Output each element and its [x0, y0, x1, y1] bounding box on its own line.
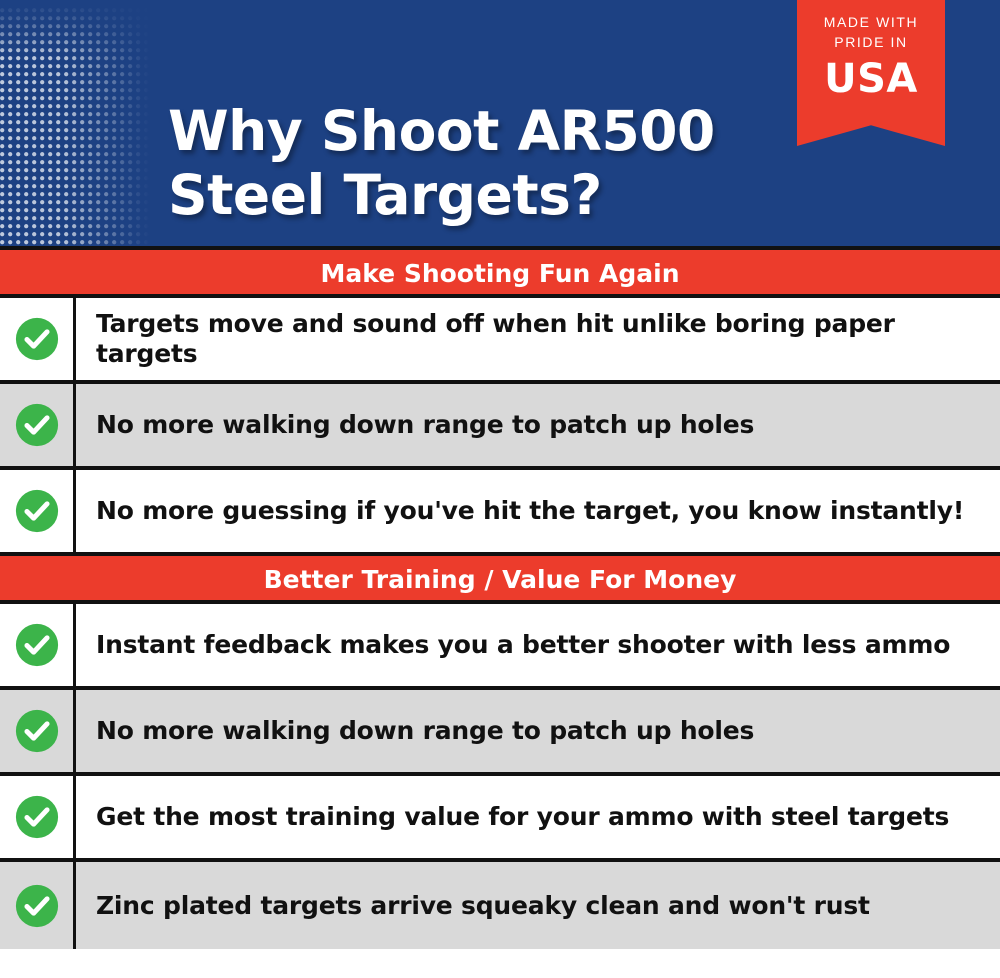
page-title-line-2: Steel Targets? — [168, 163, 768, 227]
list-item-label: No more walking down range to patch up h… — [96, 410, 754, 440]
list-item-label: Targets move and sound off when hit unli… — [96, 309, 986, 369]
check-circle-icon — [14, 488, 60, 534]
section-header-make-shooting-fun-again: Make Shooting Fun Again — [0, 250, 1000, 298]
made-in-usa-ribbon-badge: MADE WITH PRIDE IN USA — [797, 0, 945, 146]
list-item-label: Instant feedback makes you a better shoo… — [96, 630, 950, 660]
hero-banner: Why Shoot AR500 Steel Targets? MADE WITH… — [0, 0, 1000, 246]
check-circle-icon — [14, 316, 60, 362]
list-item-label: Zinc plated targets arrive squeaky clean… — [96, 891, 870, 921]
halftone-dot-pattern — [0, 8, 150, 246]
page-title: Why Shoot AR500 Steel Targets? — [168, 99, 768, 227]
list-item-icon-cell — [0, 384, 76, 466]
list-item-text-cell: No more walking down range to patch up h… — [76, 384, 1000, 466]
benefits-list: Make Shooting Fun Again Targets move and… — [0, 246, 1000, 949]
check-circle-icon — [14, 622, 60, 668]
badge-line-2: PRIDE IN — [797, 32, 945, 52]
list-item-label: Get the most training value for your amm… — [96, 802, 949, 832]
list-item-icon-cell — [0, 604, 76, 686]
list-item-text-cell: Get the most training value for your amm… — [76, 776, 1000, 858]
list-item-text-cell: No more walking down range to patch up h… — [76, 690, 1000, 772]
section-header-better-training-value-for-money: Better Training / Value For Money — [0, 556, 1000, 604]
list-item-text-cell: Zinc plated targets arrive squeaky clean… — [76, 862, 1000, 949]
check-circle-icon — [14, 402, 60, 448]
list-item-text-cell: Targets move and sound off when hit unli… — [76, 298, 1000, 380]
list-item-icon-cell — [0, 298, 76, 380]
list-item-label: No more guessing if you've hit the targe… — [96, 496, 964, 526]
list-item-text-cell: Instant feedback makes you a better shoo… — [76, 604, 1000, 686]
list-item-icon-cell — [0, 776, 76, 858]
list-item-icon-cell — [0, 470, 76, 552]
list-item-icon-cell — [0, 690, 76, 772]
check-circle-icon — [14, 883, 60, 929]
list-item: Zinc plated targets arrive squeaky clean… — [0, 862, 1000, 949]
list-item: No more walking down range to patch up h… — [0, 690, 1000, 776]
badge-country-label: USA — [797, 56, 945, 102]
list-item: Instant feedback makes you a better shoo… — [0, 604, 1000, 690]
page-title-line-1: Why Shoot AR500 — [168, 99, 768, 163]
list-item-label: No more walking down range to patch up h… — [96, 716, 754, 746]
list-item-text-cell: No more guessing if you've hit the targe… — [76, 470, 1000, 552]
list-item-icon-cell — [0, 862, 76, 949]
list-item: No more walking down range to patch up h… — [0, 384, 1000, 470]
check-circle-icon — [14, 794, 60, 840]
badge-line-1: MADE WITH — [797, 12, 945, 32]
list-item: Targets move and sound off when hit unli… — [0, 298, 1000, 384]
infographic-root: Why Shoot AR500 Steel Targets? MADE WITH… — [0, 0, 1000, 978]
list-item: No more guessing if you've hit the targe… — [0, 470, 1000, 556]
check-circle-icon — [14, 708, 60, 754]
list-item: Get the most training value for your amm… — [0, 776, 1000, 862]
